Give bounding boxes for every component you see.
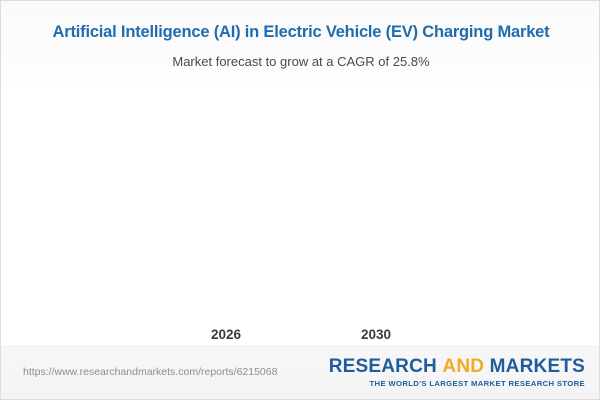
chart-plot-area: USD 2.4 Billion 2026 USD 6.01 Billion xyxy=(1,89,600,346)
chart-header: Artificial Intelligence (AI) in Electric… xyxy=(1,1,600,89)
logo-wordmark: RESEARCH AND MARKETS xyxy=(329,357,585,376)
research-and-markets-logo[interactable]: RESEARCH AND MARKETS THE WORLD'S LARGEST… xyxy=(329,357,585,388)
logo-word-and: AND xyxy=(442,356,484,377)
logo-word-markets: MARKETS xyxy=(490,356,585,377)
chart-title: Artificial Intelligence (AI) in Electric… xyxy=(1,1,600,43)
chart-footer: https://www.researchandmarkets.com/repor… xyxy=(1,346,600,399)
infographic-card: Artificial Intelligence (AI) in Electric… xyxy=(0,0,600,400)
source-url-link[interactable]: https://www.researchandmarkets.com/repor… xyxy=(23,366,277,378)
logo-tagline: THE WORLD'S LARGEST MARKET RESEARCH STOR… xyxy=(329,380,585,388)
logo-word-research: RESEARCH xyxy=(329,356,437,377)
bar-category-label-2030: 2030 xyxy=(296,327,456,342)
bar-category-label-2026: 2026 xyxy=(146,327,306,342)
chart-subtitle: Market forecast to grow at a CAGR of 25.… xyxy=(1,43,600,70)
